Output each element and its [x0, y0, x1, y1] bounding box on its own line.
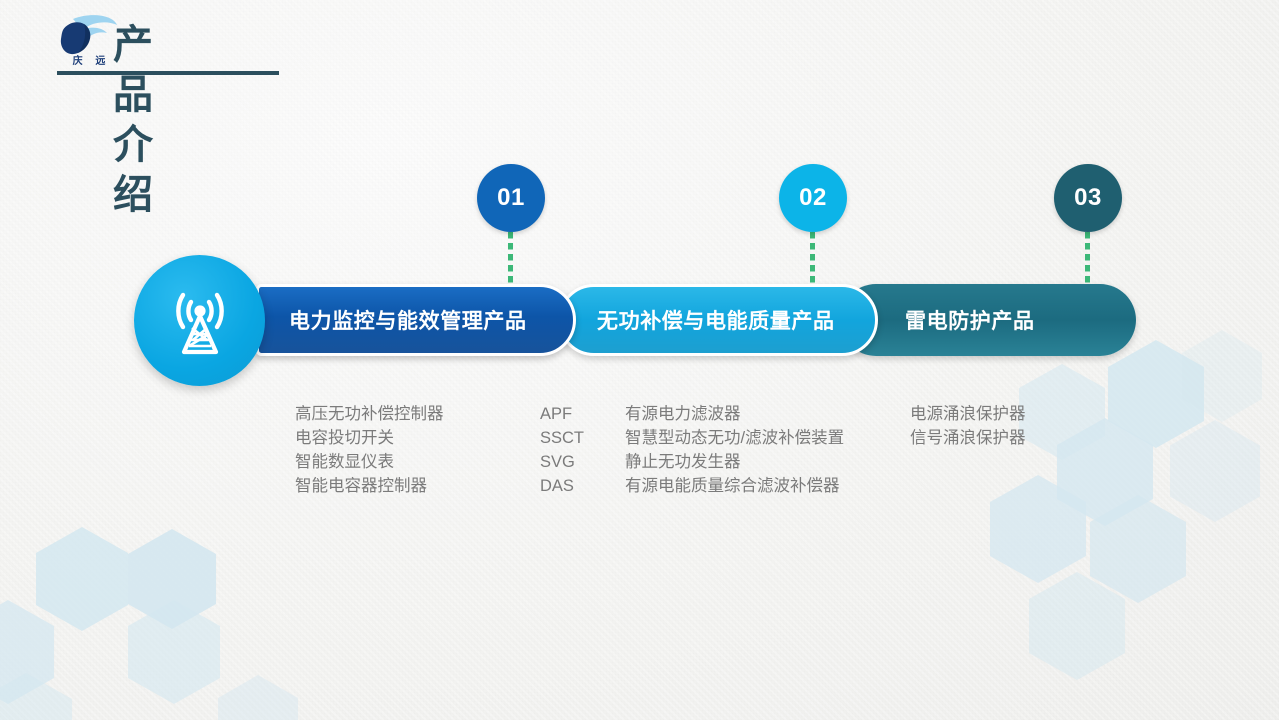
list-item: 智能数显仪表 — [295, 450, 444, 474]
step-badge-label: 03 — [1074, 184, 1102, 212]
step-badge-label: 01 — [497, 184, 525, 212]
step-badge-label: 02 — [799, 184, 827, 212]
list-item: SVG — [540, 450, 584, 474]
hexagon-decor — [1182, 330, 1262, 422]
product-list-column-4: 电源涌浪保护器 信号涌浪保护器 — [910, 402, 1026, 450]
list-item: 有源电能质量综合滤波补偿器 — [625, 474, 844, 498]
list-item: 智能电容器控制器 — [295, 474, 444, 498]
slide-canvas: 庆 远 产品介绍 01 02 03 雷电防护产品 无功补偿与电能质量产品 电力监… — [0, 0, 1279, 720]
hexagon-decor — [1029, 572, 1125, 680]
list-item: APF — [540, 402, 584, 426]
hexagon-decor — [128, 600, 220, 704]
connector-line-02 — [810, 232, 815, 288]
hexagon-decor — [1170, 420, 1260, 522]
ribbon-segment-power-monitoring[interactable]: 电力监控与能效管理产品 — [256, 284, 576, 356]
broadcast-tower-badge[interactable] — [134, 255, 265, 386]
ribbon-segment-lightning-protection[interactable]: 雷电防护产品 — [840, 284, 1136, 356]
ribbon-segment-label: 雷电防护产品 — [905, 305, 1035, 335]
hexagon-decor — [1090, 495, 1186, 603]
list-item: 智慧型动态无功/滤波补偿装置 — [625, 426, 844, 450]
list-item: 静止无功发生器 — [625, 450, 844, 474]
list-item: 电源涌浪保护器 — [910, 402, 1026, 426]
connector-line-03 — [1085, 232, 1090, 288]
hexagon-decor — [1108, 340, 1204, 448]
step-badge-01[interactable]: 01 — [477, 164, 545, 232]
hexagon-decor — [218, 675, 298, 720]
hexagon-decor — [0, 673, 72, 720]
list-item: 高压无功补偿控制器 — [295, 402, 444, 426]
hexagon-decor — [0, 600, 54, 704]
ribbon-segment-label: 无功补偿与电能质量产品 — [597, 305, 835, 335]
list-item: 信号涌浪保护器 — [910, 426, 1026, 450]
broadcast-tower-icon — [161, 282, 239, 360]
hexagon-decor — [128, 529, 216, 629]
product-list-column-3: 有源电力滤波器 智慧型动态无功/滤波补偿装置 静止无功发生器 有源电能质量综合滤… — [625, 402, 844, 498]
step-badge-02[interactable]: 02 — [779, 164, 847, 232]
hexagon-decor — [36, 527, 128, 631]
hexagon-decor — [1057, 418, 1153, 526]
step-badge-03[interactable]: 03 — [1054, 164, 1122, 232]
list-item: 电容投切开关 — [295, 426, 444, 450]
product-list-column-2-abbrev: APF SSCT SVG DAS — [540, 402, 584, 498]
ribbon-segment-reactive-compensation[interactable]: 无功补偿与电能质量产品 — [558, 284, 878, 356]
list-item: SSCT — [540, 426, 584, 450]
product-list-column-1: 高压无功补偿控制器 电容投切开关 智能数显仪表 智能电容器控制器 — [295, 402, 444, 498]
ribbon-segment-label: 电力监控与能效管理产品 — [289, 305, 527, 335]
page-title: 产品介绍 — [113, 20, 155, 220]
connector-line-01 — [508, 232, 513, 288]
hexagon-decor — [1019, 364, 1105, 460]
logo-wordmark: 庆 远 — [60, 52, 118, 67]
list-item: DAS — [540, 474, 584, 498]
title-underline — [57, 71, 279, 75]
list-item: 有源电力滤波器 — [625, 402, 844, 426]
hexagon-decor — [990, 475, 1086, 583]
